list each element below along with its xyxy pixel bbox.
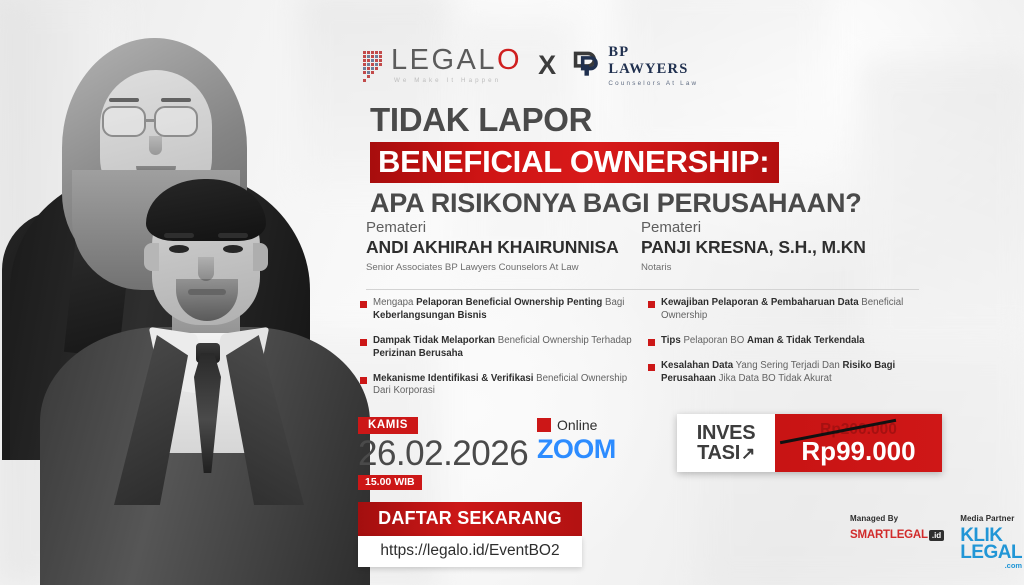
bp-name: BP LAWYERS bbox=[608, 44, 702, 78]
topics-column-right: Kewajiban Pelaporan & Pembaharuan Data B… bbox=[648, 297, 920, 410]
smartlegal-suffix-badge: .id bbox=[929, 530, 944, 541]
old-price: Rp200.000 bbox=[820, 422, 897, 438]
bp-tagline: Counselors At Law bbox=[608, 80, 702, 87]
new-price: Rp99.000 bbox=[801, 438, 915, 464]
man-eye bbox=[169, 245, 189, 253]
zoom-logo: ZOOM bbox=[537, 434, 616, 465]
event-time-badge: 15.00 WIB bbox=[358, 475, 422, 490]
topic-text: Mekanisme Identifikasi & Verifikasi Bene… bbox=[373, 373, 632, 399]
legalo-name-o: O bbox=[497, 46, 522, 75]
bp-wordmark: BP LAWYERS Counselors At Law bbox=[608, 44, 702, 87]
event-platform-block: Online ZOOM bbox=[537, 417, 616, 465]
list-item: Mengapa Pelaporan Beneficial Ownership P… bbox=[360, 297, 632, 323]
topic-text: Tips Pelaporan BO Aman & Tidak Terkendal… bbox=[661, 335, 865, 348]
topic-text: Kewajiban Pelaporan & Pembaharuan Data B… bbox=[661, 297, 920, 323]
kliklegal-line-2: LEGAL bbox=[960, 544, 1022, 561]
investment-label-text: TASI bbox=[697, 443, 740, 463]
topic-text: Dampak Tidak Melaporkan Beneficial Owner… bbox=[373, 335, 632, 361]
platform-mode-row: Online bbox=[537, 417, 616, 433]
list-item: Kesalahan Data Yang Sering Terjadi Dan R… bbox=[648, 360, 920, 386]
speakers-section: Pemateri ANDI AKHIRAH KHAIRUNNISA Senior… bbox=[366, 219, 916, 273]
speaker-card-2: Pemateri PANJI KRESNA, S.H., M.KN Notari… bbox=[641, 219, 916, 273]
register-url[interactable]: https://legalo.id/EventBO2 bbox=[358, 536, 582, 567]
bullet-square-icon bbox=[648, 301, 655, 308]
logo-row: LEGALO We Make It Happen X BP LAWYERS Co… bbox=[362, 38, 702, 92]
bullet-square-icon bbox=[360, 301, 367, 308]
man-eye bbox=[223, 245, 243, 253]
bp-lawyers-logo: BP LAWYERS Counselors At Law bbox=[572, 44, 702, 87]
investment-price-box: INVES TASI↗ Rp200.000 Rp99.000 bbox=[677, 414, 942, 472]
bullet-square-icon bbox=[648, 339, 655, 346]
section-divider bbox=[366, 289, 919, 290]
woman-eyebrow bbox=[109, 98, 139, 102]
partners-section: Managed By SMARTLEGAL .id Media Partner … bbox=[850, 514, 1020, 570]
event-date-block: KAMIS 26.02.2026 15.00 WIB bbox=[358, 415, 538, 490]
bp-monogram-icon bbox=[572, 48, 602, 82]
speaker-name: ANDI AKHIRAH KHAIRUNNISA bbox=[366, 237, 641, 258]
list-item: Mekanisme Identifikasi & Verifikasi Bene… bbox=[360, 373, 632, 399]
list-item: Dampak Tidak Melaporkan Beneficial Owner… bbox=[360, 335, 632, 361]
legalo-name: LEGALO bbox=[391, 46, 522, 75]
bullet-square-icon bbox=[360, 339, 367, 346]
arrow-up-right-icon: ↗ bbox=[741, 445, 755, 462]
speaker-role: Pemateri bbox=[366, 219, 641, 236]
red-square-icon bbox=[537, 418, 551, 432]
list-item: Kewajiban Pelaporan & Pembaharuan Data B… bbox=[648, 297, 920, 323]
investment-label-line-1: INVES bbox=[697, 423, 756, 443]
man-ear bbox=[144, 243, 159, 271]
kliklegal-logo: KLIK LEGAL .com bbox=[960, 527, 1022, 570]
woman-nose bbox=[149, 136, 162, 155]
headline-line-1: TIDAK LAPOR bbox=[370, 103, 900, 138]
headline-highlight-band: BENEFICIAL OWNERSHIP: bbox=[370, 142, 779, 183]
woman-eyeglasses bbox=[102, 106, 146, 137]
media-partner-label: Media Partner bbox=[960, 514, 1022, 523]
man-eyebrow bbox=[218, 233, 248, 238]
legalo-name-main: LEGAL bbox=[391, 46, 497, 75]
woman-eyeglasses bbox=[154, 106, 198, 137]
man-ear bbox=[253, 243, 268, 271]
logo-separator-x: X bbox=[538, 50, 556, 81]
topics-column-left: Mengapa Pelaporan Beneficial Ownership P… bbox=[360, 297, 632, 410]
page-title: TIDAK LAPOR BENEFICIAL OWNERSHIP: APA RI… bbox=[370, 103, 900, 219]
register-button[interactable]: DAFTAR SEKARANG bbox=[358, 502, 582, 536]
topics-section: Mengapa Pelaporan Beneficial Ownership P… bbox=[360, 297, 920, 410]
event-day-badge: KAMIS bbox=[358, 417, 418, 434]
registration-block[interactable]: DAFTAR SEKARANG https://legalo.id/EventB… bbox=[358, 502, 582, 567]
managed-by-block: Managed By SMARTLEGAL .id bbox=[850, 514, 944, 570]
smartlegal-logo: SMARTLEGAL .id bbox=[850, 529, 944, 541]
investment-label: INVES TASI↗ bbox=[677, 414, 775, 472]
legalo-tagline: We Make It Happen bbox=[394, 78, 522, 84]
webinar-poster: LEGALO We Make It Happen X BP LAWYERS Co… bbox=[0, 0, 1024, 585]
speaker-title: Senior Associates BP Lawyers Counselors … bbox=[366, 262, 641, 273]
headline-line-3: APA RISIKONYA BAGI PERUSAHAAN? bbox=[370, 188, 900, 219]
man-mouth bbox=[188, 289, 226, 295]
smartlegal-name: SMARTLEGAL bbox=[850, 529, 928, 541]
woman-glasses-bridge bbox=[146, 119, 155, 122]
man-eyebrow bbox=[164, 233, 194, 238]
speaker-photo-man bbox=[40, 175, 370, 585]
bullet-square-icon bbox=[648, 364, 655, 371]
speaker-card-1: Pemateri ANDI AKHIRAH KHAIRUNNISA Senior… bbox=[366, 219, 641, 273]
kliklegal-suffix: .com bbox=[960, 563, 1022, 570]
media-partner-block: Media Partner KLIK LEGAL .com bbox=[960, 514, 1022, 570]
investment-label-line-2: TASI↗ bbox=[697, 443, 755, 463]
event-mode: Online bbox=[557, 417, 597, 433]
topic-text: Mengapa Pelaporan Beneficial Ownership P… bbox=[373, 297, 632, 323]
managed-by-label: Managed By bbox=[850, 514, 944, 523]
speaker-title: Notaris bbox=[641, 262, 916, 273]
legalo-logo: LEGALO We Make It Happen bbox=[362, 46, 522, 84]
event-date: 26.02.2026 bbox=[358, 435, 538, 472]
man-nose bbox=[198, 257, 214, 281]
legalo-mosaic-icon bbox=[362, 50, 388, 84]
man-hair bbox=[146, 179, 266, 241]
investment-prices: Rp200.000 Rp99.000 bbox=[775, 414, 942, 472]
speaker-role: Pemateri bbox=[641, 219, 916, 236]
list-item: Tips Pelaporan BO Aman & Tidak Terkendal… bbox=[648, 335, 920, 348]
bullet-square-icon bbox=[360, 377, 367, 384]
topic-text: Kesalahan Data Yang Sering Terjadi Dan R… bbox=[661, 360, 920, 386]
speaker-name: PANJI KRESNA, S.H., M.KN bbox=[641, 237, 916, 258]
woman-eyebrow bbox=[161, 98, 191, 102]
legalo-wordmark: LEGALO We Make It Happen bbox=[391, 46, 522, 84]
